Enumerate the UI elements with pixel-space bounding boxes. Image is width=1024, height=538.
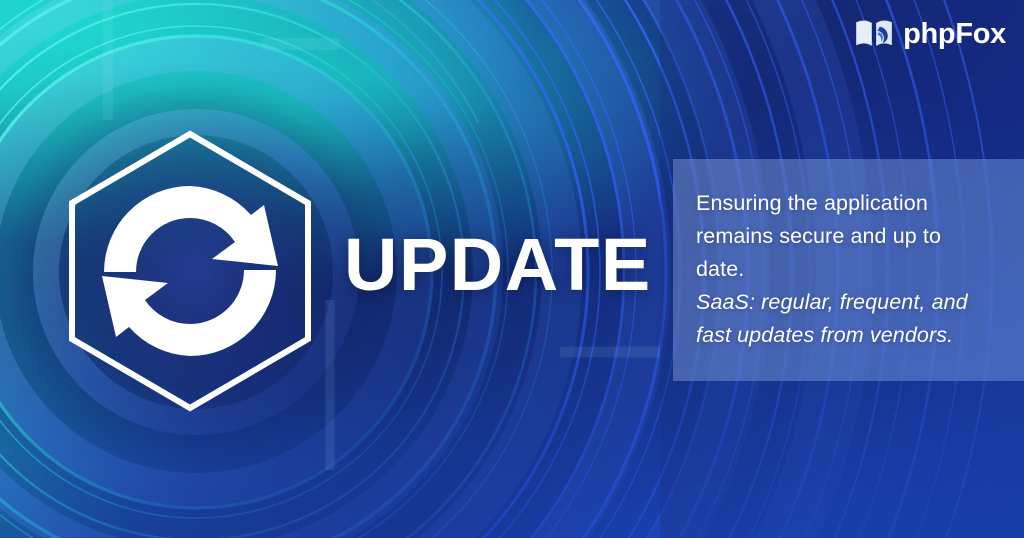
info-line-italic: SaaS: regular, frequent, and — [696, 286, 998, 319]
brand-logo[interactable]: phpFox — [854, 18, 1006, 50]
sync-refresh-arrows-icon — [102, 186, 278, 356]
update-hexagon-icon-group — [60, 120, 322, 422]
update-promo-banner: UPDATE Ensuring the application remains … — [0, 0, 1024, 538]
info-panel: Ensuring the application remains secure … — [673, 159, 1024, 381]
info-line: Ensuring the application — [696, 187, 998, 220]
info-line: remains secure and up to — [696, 220, 998, 253]
info-line: date. — [696, 253, 998, 286]
phpfox-book-fox-logo-icon — [854, 18, 894, 50]
info-panel-emphasis-text: SaaS: regular, frequent, and fast update… — [696, 286, 998, 352]
brand-name: phpFox — [903, 20, 1006, 49]
page-title: UPDATE — [344, 228, 652, 302]
info-line-italic: fast updates from vendors. — [696, 319, 998, 352]
info-panel-primary-text: Ensuring the application remains secure … — [696, 187, 998, 286]
